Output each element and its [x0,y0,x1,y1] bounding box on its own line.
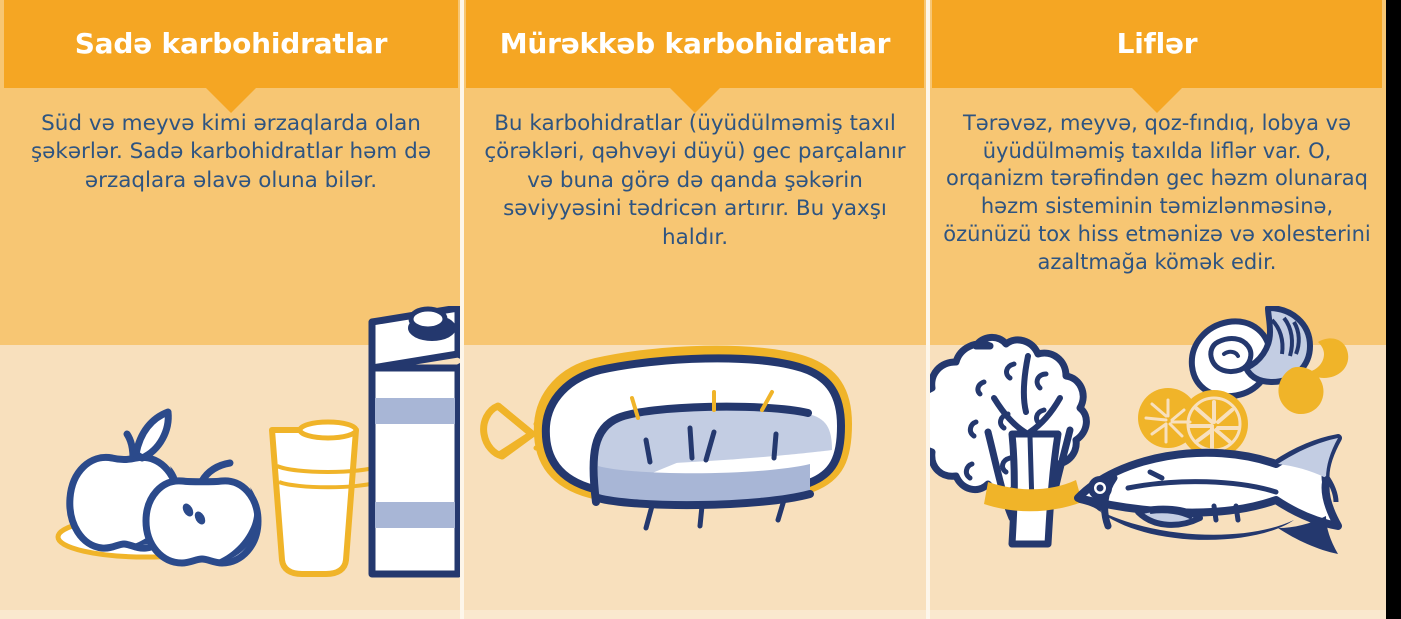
column-body-text: Tərəvəz, meyvə, qoz-fındıq, lobya və üyü… [928,110,1386,276]
apple-on-plate-icon [70,412,181,548]
milk-carton-icon [372,308,462,574]
column-fibre: Liflər Tərəvəz, meyvə, qoz-fındıq, lobya… [928,0,1386,619]
twist-tie-icon [484,406,570,456]
apple-milk-illustration [0,306,462,610]
column-divider-2 [926,0,930,619]
column-container: Sadə karbohidratlar Süd və meyvə kimi ər… [0,0,1386,619]
column-complex-carbohydrates: Mürəkkəb karbohidratlar Bu karbohidratla… [462,0,928,619]
fish-icon [1078,438,1338,554]
glass-of-milk-icon [272,422,379,574]
apple-half-icon [146,463,259,563]
bagged-bread-loaf-icon [546,358,841,528]
column-header-title: Mürəkkəb karbohidratlar [488,29,903,60]
column-header-title: Liflər [1105,29,1210,60]
vegetables-fish-nuts-illustration [928,306,1386,610]
plate-icon [58,517,234,557]
column-body-text: Süd və meyvə kimi ərzaqlarda olan şəkərl… [0,110,462,195]
header-notch-triangle-icon [1132,88,1182,113]
cashew-nut-icon [1278,338,1348,414]
column-divider-1 [460,0,464,619]
walnut-icon [1192,308,1310,396]
column-simple-carbohydrates: Sadə karbohidratlar Süd və meyvə kimi ər… [0,0,462,619]
right-edge-border [1386,0,1401,619]
header-notch-triangle-icon [670,88,720,113]
broccoli-icon [928,337,1086,544]
column-header-fibre: Liflər [932,0,1382,88]
carton-cap-icon [408,309,456,341]
bread-bag-outline [540,352,846,502]
carbohydrates-infographic: Sadə karbohidratlar Süd və meyvə kimi ər… [0,0,1401,619]
column-header-complex-carbohydrates: Mürəkkəb karbohidratlar [466,0,924,88]
column-header-title: Sadə karbohidratlar [63,29,400,60]
column-body-text: Bu karbohidratlar (üyüdülməmiş taxıl çör… [462,110,928,252]
bread-loaf-illustration [462,306,928,610]
header-notch-triangle-icon [206,88,256,113]
column-header-simple-carbohydrates: Sadə karbohidratlar [4,0,458,88]
lemon-slice-icon [1138,388,1248,458]
